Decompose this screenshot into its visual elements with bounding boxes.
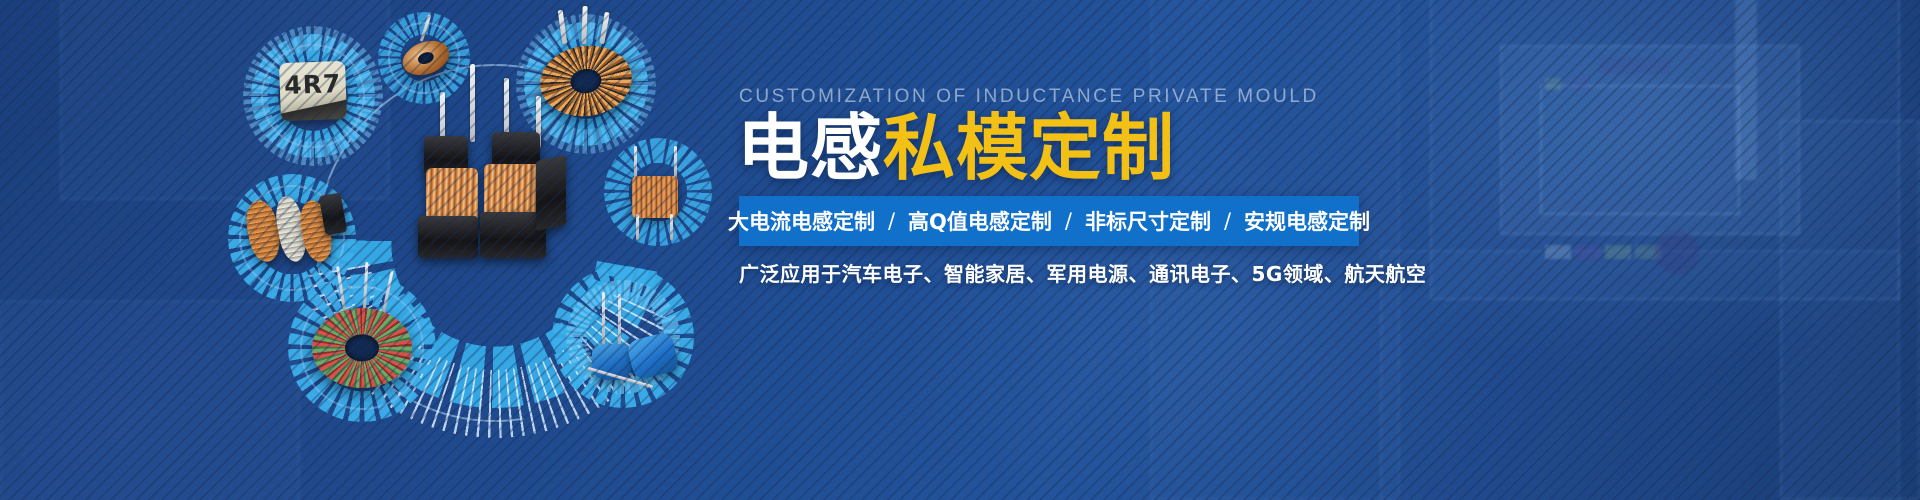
product-flat-wire-coil-copper (244, 190, 340, 276)
product-green-toroidal-choke (312, 300, 412, 392)
choke-pin (470, 64, 475, 142)
radial-body-back (626, 331, 680, 381)
service-item-2[interactable]: 非标尺寸定制 (1085, 206, 1211, 236)
inductance-customization-banner: 4R7 (0, 0, 1920, 500)
flat-coil-body (398, 35, 454, 81)
service-separator: / (1052, 209, 1085, 233)
service-separator: / (1211, 209, 1244, 233)
choke-core-base (418, 216, 478, 258)
product-artwork-cluster: 4R7 (0, 0, 760, 500)
product-large-copper-wound-choke (418, 108, 568, 253)
banner-text-content: CUSTOMIZATION OF INDUCTANCE PRIVATE MOUL… (737, 0, 1920, 500)
radial-lead (618, 294, 621, 348)
headline-part-white: 电感 (737, 106, 883, 190)
services-bar: 大电流电感定制 / 高Q值电感定制 / 非标尺寸定制 / 安规电感定制 (739, 196, 1359, 246)
page-title: 电感私模定制 (737, 112, 1175, 184)
service-separator: / (875, 209, 908, 233)
product-smd-power-inductor: 4R7 (279, 61, 347, 121)
product-radial-leaded-inductor-blue (578, 292, 682, 396)
product-flat-wire-coil (398, 30, 454, 84)
radial-lead (602, 292, 605, 348)
service-item-1[interactable]: 高Q值电感定制 (908, 206, 1052, 236)
service-item-0[interactable]: 大电流电感定制 (728, 206, 875, 236)
service-item-3[interactable]: 安规电感定制 (1244, 206, 1370, 236)
application-description: 广泛应用于汽车电子、智能家居、军用电源、通讯电子、5G领域、航天航空 (739, 258, 1426, 287)
rod-lead (670, 214, 673, 240)
rod-lead (636, 214, 639, 240)
rod-coil-winding (632, 176, 678, 218)
headline-part-gold: 私模定制 (883, 106, 1175, 190)
green-toroid-body (312, 308, 412, 388)
product-rod-core-inductor (626, 146, 690, 242)
choke-core-wing (536, 155, 566, 231)
services-row: 大电流电感定制 / 高Q值电感定制 / 非标尺寸定制 / 安规电感定制 (728, 206, 1370, 236)
eyebrow-english-subtitle: CUSTOMIZATION OF INDUCTANCE PRIVATE MOUL… (739, 86, 1319, 108)
rod-lead (634, 146, 637, 180)
rod-lead (674, 146, 677, 180)
smd-marking-label: 4R7 (279, 69, 346, 100)
choke-pin (581, 6, 587, 44)
